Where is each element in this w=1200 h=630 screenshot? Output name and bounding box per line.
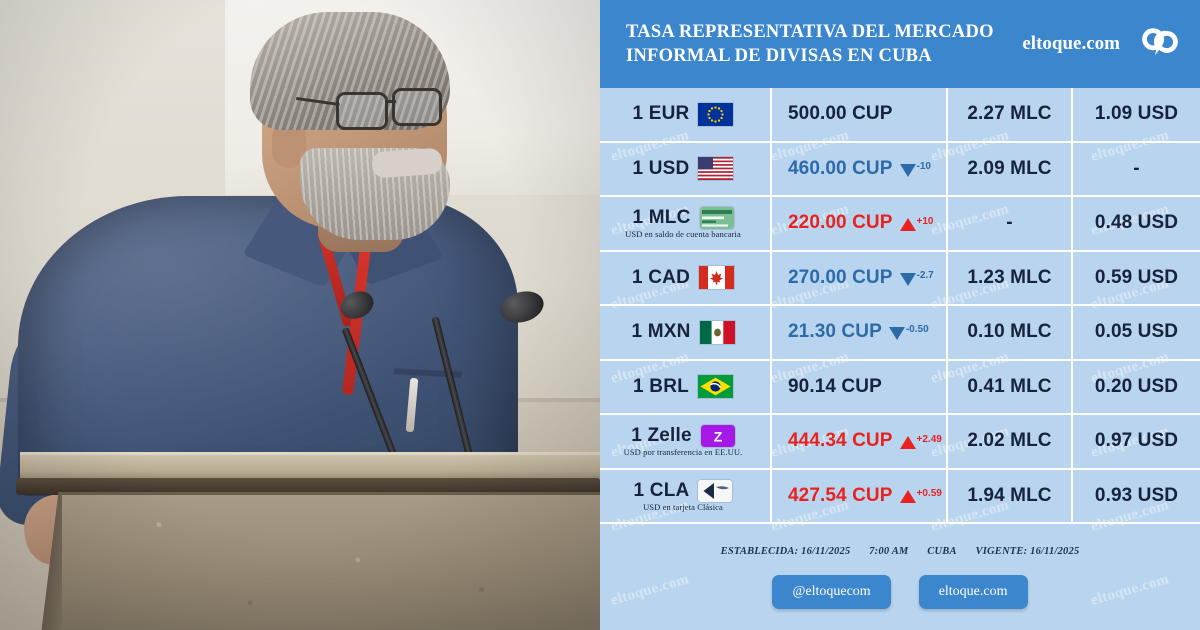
flag-us-icon (698, 157, 733, 180)
panel-header: TASA REPRESENTATIVA DEL MERCADO INFORMAL… (600, 0, 1200, 88)
cup-rate-cell: 500.00 CUP (772, 88, 948, 141)
flag-br-icon (698, 375, 733, 398)
trend-up-icon: +10 (900, 216, 934, 231)
currency-line: 1 CAD (632, 266, 734, 289)
currency-cell: 1 MXN (600, 306, 772, 359)
currency-label: 1 BRL (633, 376, 689, 398)
currency-cell: 1 CLAUSD en tarjeta Clásica (600, 470, 772, 523)
trend-delta-value: -0.50 (906, 324, 929, 335)
cup-rate-cell: 90.14 CUP (772, 361, 948, 414)
trend-arrow (900, 164, 916, 177)
table-row: 1 CAD270.00 CUP-2.71.23 MLC0.59 USD (600, 252, 1200, 307)
photo-glasses-lens-right (392, 88, 442, 126)
mlc-rate-cell: 2.02 MLC (948, 415, 1073, 468)
cup-rate-value: 21.30 CUP (788, 321, 882, 343)
mlc-rate-cell: 0.10 MLC (948, 306, 1073, 359)
currency-line: 1 MLC (633, 207, 734, 229)
trend-up-icon: +0.59 (900, 488, 942, 503)
icon-bank-card-icon (700, 207, 734, 229)
valid-date: VIGENTE: 16/11/2025 (976, 546, 1080, 557)
currency-subtitle: USD en tarjeta Clásica (643, 502, 723, 512)
cup-rate-cell: 427.54 CUP+0.59 (772, 470, 948, 523)
mlc-rate-value: 1.94 MLC (967, 485, 1051, 507)
currency-cell: 1 ZelleZUSD por transferencia en EE.UU. (600, 415, 772, 468)
currency-label: 1 Zelle (631, 425, 692, 447)
cup-rate-value: 500.00 CUP (788, 103, 893, 125)
flag-ca-icon (699, 266, 734, 289)
trend-delta-value: +10 (917, 216, 934, 227)
mlc-rate-value: - (1006, 212, 1012, 234)
usd-rate-cell: 0.93 USD (1073, 470, 1200, 523)
trend-arrow (900, 273, 916, 286)
header-brand-text: eltoque.com (1022, 33, 1120, 55)
currency-label: 1 CLA (634, 480, 690, 502)
mlc-rate-value: 0.41 MLC (967, 376, 1051, 398)
usd-rate-value: 0.93 USD (1095, 485, 1178, 507)
speaker-photo (0, 0, 600, 630)
cup-rate-value: 90.14 CUP (788, 376, 882, 398)
flag-mx-icon (700, 321, 735, 344)
trend-down-icon: -0.50 (889, 324, 929, 340)
currency-line: 1 MXN (631, 321, 734, 344)
mlc-rate-cell: - (948, 197, 1073, 250)
mlc-rate-value: 2.09 MLC (967, 158, 1051, 180)
usd-rate-value: 1.09 USD (1095, 103, 1178, 125)
currency-label: 1 CAD (632, 267, 690, 289)
usd-rate-value: 0.20 USD (1095, 376, 1178, 398)
usd-rate-cell: 1.09 USD (1073, 88, 1200, 141)
trend-arrow (900, 218, 916, 231)
usd-rate-cell: 0.48 USD (1073, 197, 1200, 250)
icon-classic-card-icon (698, 480, 732, 502)
mlc-rate-value: 2.27 MLC (967, 103, 1051, 125)
trend-arrow (900, 490, 916, 503)
table-row: 1 MXN21.30 CUP-0.500.10 MLC0.05 USD (600, 306, 1200, 361)
mlc-rate-cell: 1.23 MLC (948, 252, 1073, 305)
mlc-rate-value: 1.23 MLC (967, 267, 1051, 289)
social-handle-button[interactable]: @eltoquecom (772, 575, 890, 609)
country-label: CUBA (927, 546, 956, 557)
trend-delta-value: -2.7 (917, 270, 934, 281)
cup-rate-value: 427.54 CUP (788, 485, 893, 507)
footer-buttons: @eltoquecom eltoque.com (600, 575, 1200, 609)
trend-arrow (889, 327, 905, 340)
trend-down-icon: -2.7 (900, 270, 934, 286)
trend-delta-value: +0.59 (917, 488, 942, 499)
trend-delta-value: -10 (917, 161, 931, 172)
mlc-rate-cell: 1.94 MLC (948, 470, 1073, 523)
currency-line: 1 CLA (634, 480, 733, 502)
table-row: 1 EUR500.00 CUP2.27 MLC1.09 USD (600, 88, 1200, 143)
table-row: 1 MLCUSD en saldo de cuenta bancaria220.… (600, 197, 1200, 252)
currency-label: 1 EUR (633, 103, 690, 125)
photo-podium-body (62, 492, 600, 630)
cup-rate-value: 270.00 CUP (788, 267, 893, 289)
established-time: 7:00 AM (869, 546, 908, 557)
mlc-rate-cell: 2.27 MLC (948, 88, 1073, 141)
currency-cell: 1 BRL (600, 361, 772, 414)
currency-cell: 1 CAD (600, 252, 772, 305)
panel-title: TASA REPRESENTATIVA DEL MERCADO INFORMAL… (626, 20, 1014, 69)
trend-up-icon: +2.49 (900, 434, 942, 449)
usd-rate-value: 0.48 USD (1095, 212, 1178, 234)
currency-label: 1 USD (633, 158, 690, 180)
table-row: 1 CLAUSD en tarjeta Clásica427.54 CUP+0.… (600, 470, 1200, 525)
currency-cell: 1 MLCUSD en saldo de cuenta bancaria (600, 197, 772, 250)
table-row: 1 BRL90.14 CUP0.41 MLC0.20 USD (600, 361, 1200, 416)
currency-line: 1 BRL (633, 375, 733, 398)
rates-panel: eltoque.comeltoque.comeltoque.comeltoque… (600, 0, 1200, 630)
usd-rate-value: 0.97 USD (1095, 430, 1178, 452)
currency-line: 1 USD (633, 157, 734, 180)
table-row: 1 ZelleZUSD por transferencia en EE.UU.4… (600, 415, 1200, 470)
cup-rate-cell: 220.00 CUP+10 (772, 197, 948, 250)
usd-rate-cell: 0.97 USD (1073, 415, 1200, 468)
cup-rate-value: 444.34 CUP (788, 430, 893, 452)
currency-cell: 1 EUR (600, 88, 772, 141)
currency-line: 1 ZelleZ (631, 425, 735, 447)
icon-zelle-icon: Z (701, 425, 735, 447)
cup-rate-value: 220.00 CUP (788, 212, 893, 234)
panel-footer: ESTABLECIDA: 16/11/2025 7:00 AM CUBA VIG… (600, 524, 1200, 609)
usd-rate-value: - (1133, 158, 1139, 180)
panel-title-line-2: INFORMAL DE DIVISAS EN CUBA (626, 44, 1014, 68)
currency-label: 1 MLC (633, 207, 691, 229)
rate-metadata: ESTABLECIDA: 16/11/2025 7:00 AM CUBA VIG… (600, 546, 1200, 557)
currency-subtitle: USD por transferencia en EE.UU. (624, 447, 743, 457)
flag-eu-icon (698, 103, 733, 126)
cup-rate-cell: 444.34 CUP+2.49 (772, 415, 948, 468)
currency-label: 1 MXN (631, 321, 690, 343)
website-button[interactable]: eltoque.com (919, 575, 1028, 609)
svg-text:Z: Z (713, 429, 722, 445)
usd-rate-cell: 0.05 USD (1073, 306, 1200, 359)
table-row: 1 USD460.00 CUP-102.09 MLC- (600, 143, 1200, 198)
usd-rate-cell: - (1073, 143, 1200, 196)
cup-rate-cell: 270.00 CUP-2.7 (772, 252, 948, 305)
photo-glasses-bridge (386, 100, 396, 103)
usd-rate-cell: 0.59 USD (1073, 252, 1200, 305)
mlc-rate-value: 2.02 MLC (967, 430, 1051, 452)
cup-rate-cell: 460.00 CUP-10 (772, 143, 948, 196)
photo-speaker-moustache (371, 148, 443, 179)
cup-rate-value: 460.00 CUP (788, 158, 893, 180)
trend-down-icon: -10 (900, 161, 931, 177)
photo-glasses-lens-left (336, 92, 388, 130)
eltoque-rings-logo-icon (1138, 24, 1182, 64)
usd-rate-value: 0.59 USD (1095, 267, 1178, 289)
mlc-rate-cell: 0.41 MLC (948, 361, 1073, 414)
infographic-root: eltoque.comeltoque.comeltoque.comeltoque… (0, 0, 1200, 630)
usd-rate-value: 0.05 USD (1095, 321, 1178, 343)
currency-line: 1 EUR (633, 103, 734, 126)
panel-title-line-1: TASA REPRESENTATIVA DEL MERCADO (626, 20, 1014, 44)
mlc-rate-value: 0.10 MLC (967, 321, 1051, 343)
established-date: ESTABLECIDA: 16/11/2025 (721, 546, 851, 557)
cup-rate-cell: 21.30 CUP-0.50 (772, 306, 948, 359)
usd-rate-cell: 0.20 USD (1073, 361, 1200, 414)
mlc-rate-cell: 2.09 MLC (948, 143, 1073, 196)
trend-arrow (900, 436, 916, 449)
currency-cell: 1 USD (600, 143, 772, 196)
rates-table: 1 EUR500.00 CUP2.27 MLC1.09 USD1 USD460.… (600, 88, 1200, 524)
currency-subtitle: USD en saldo de cuenta bancaria (625, 229, 741, 239)
trend-delta-value: +2.49 (917, 434, 942, 445)
